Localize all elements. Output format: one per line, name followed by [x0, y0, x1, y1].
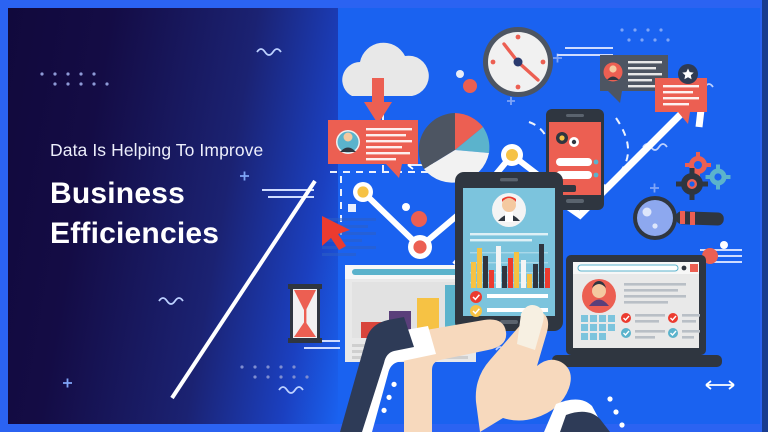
- laptop-dashboard: [552, 255, 722, 367]
- kicker-text: Data Is Helping To Improve: [50, 140, 340, 161]
- red-chat-bubble-card: [328, 120, 418, 178]
- banner-root: Data Is Helping To Improve Business Effi…: [0, 0, 768, 432]
- headline-line-1: Business: [50, 174, 340, 214]
- hourglass-icon: [288, 284, 322, 343]
- cloud-download-icon: [342, 43, 429, 124]
- analog-clock-icon: [483, 27, 553, 97]
- gears-icon: [676, 152, 731, 200]
- headline-line-2: Efficiencies: [50, 214, 340, 254]
- tablet-dashboard: [455, 172, 563, 331]
- text-block: Data Is Helping To Improve Business Effi…: [50, 140, 340, 254]
- headline-text: Business Efficiencies: [50, 174, 340, 254]
- magnifier-icon: [633, 196, 724, 240]
